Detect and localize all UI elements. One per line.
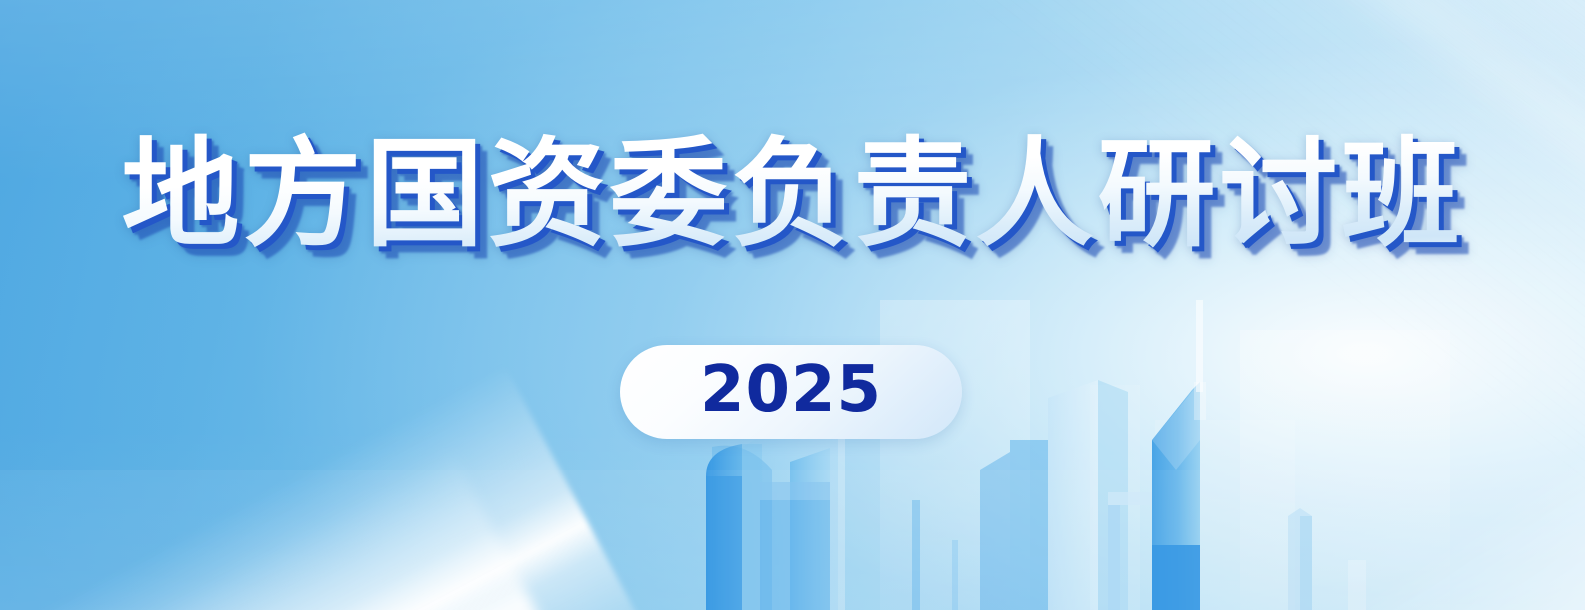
- banner-title-container: 地方国资委负责人研讨班: [0, 128, 1585, 260]
- city-skyline-illustration: [0, 0, 1585, 610]
- page-title: 地方国资委负责人研讨班: [121, 128, 1463, 260]
- year-badge: 2025: [620, 345, 962, 439]
- year-badge-label: 2025: [700, 358, 882, 426]
- event-banner: 地方国资委负责人研讨班 2025: [0, 0, 1585, 610]
